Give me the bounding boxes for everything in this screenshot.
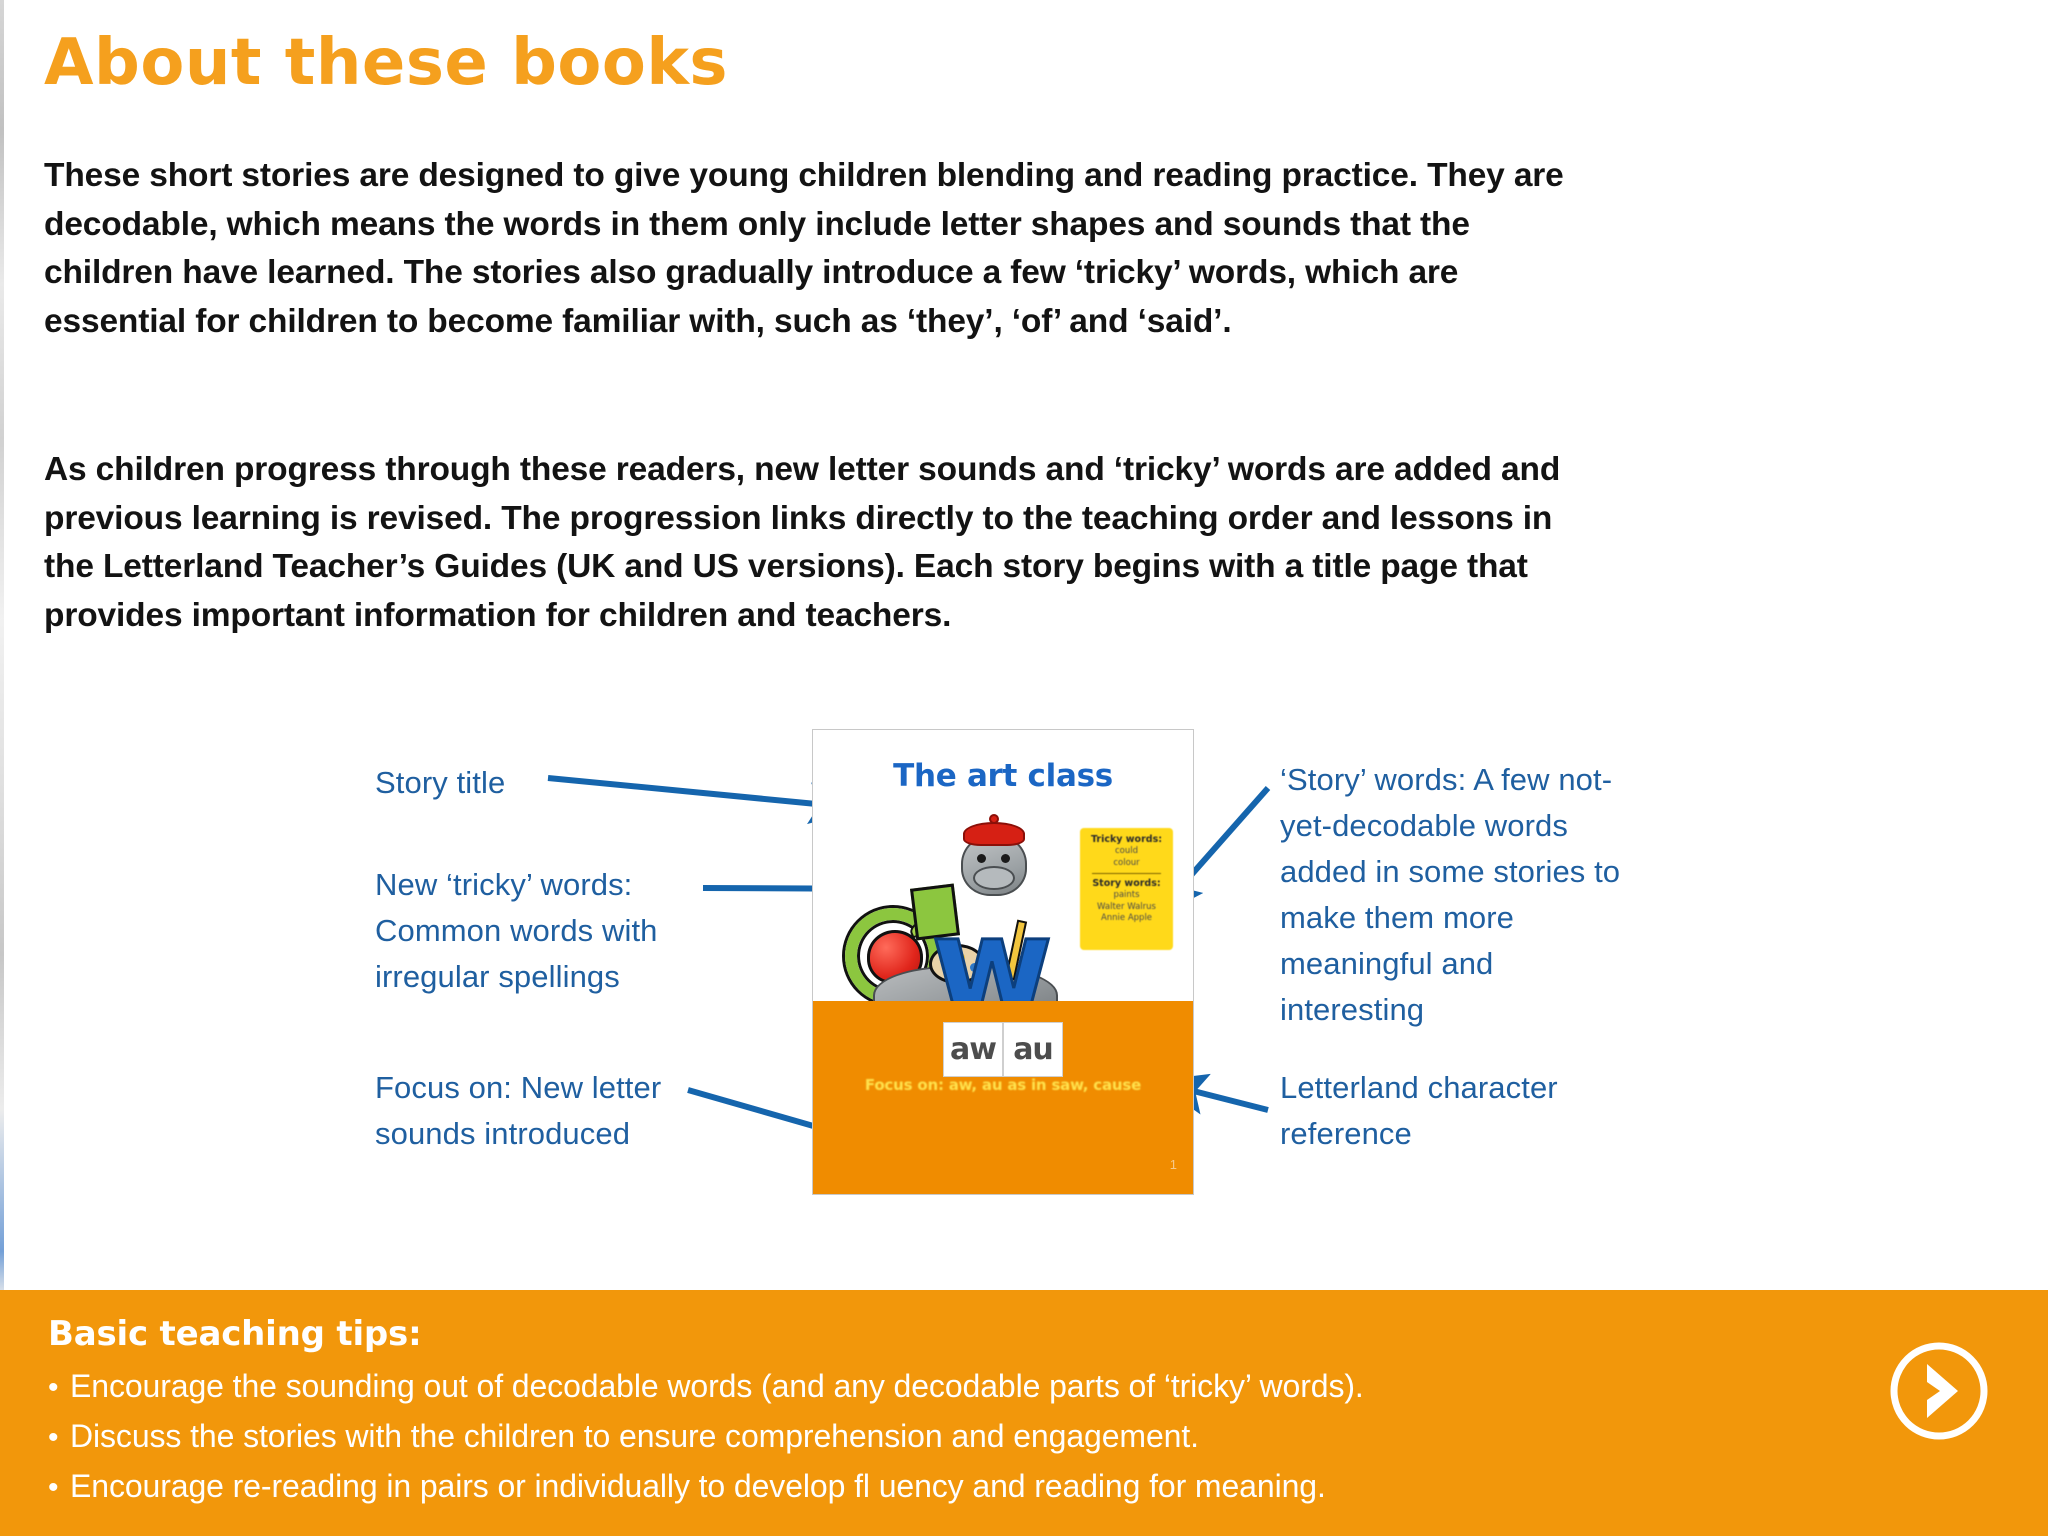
annotation-story-title: Story title	[375, 760, 695, 806]
cover-focus-line: Focus on: aw, au as in saw, cause	[813, 1076, 1193, 1094]
bullet-glyph: •	[48, 1463, 70, 1512]
story-word-3: Annie Apple	[1084, 913, 1169, 925]
cover-page-number: 1	[1170, 1157, 1177, 1172]
tricky-word-2: colour	[1084, 858, 1169, 870]
chevron-right-circle-icon[interactable]	[1886, 1338, 1992, 1444]
annotation-focus-on: Focus on: New letter sounds introduced	[375, 1065, 715, 1157]
annotation-character-reference: Letterland character reference	[1280, 1065, 1620, 1157]
story-words-heading: Story words:	[1084, 878, 1169, 890]
teaching-tips-banner: Basic teaching tips: • Encourage the sou…	[0, 1290, 2048, 1536]
beret-nub-shape	[989, 814, 999, 824]
list-item: • Encourage the sounding out of decodabl…	[48, 1362, 1828, 1412]
story-word-1: paints	[1084, 890, 1169, 902]
list-item: • Encourage re-reading in pairs or indiv…	[48, 1462, 1828, 1512]
sound-card-aw: aw	[943, 1022, 1003, 1077]
bullet-glyph: •	[48, 1413, 70, 1462]
book-cover-thumbnail[interactable]: The art class w	[812, 729, 1194, 1195]
red-beret-shape	[963, 822, 1025, 846]
walrus-left-eye	[977, 854, 986, 863]
teaching-tips-heading: Basic teaching tips:	[48, 1314, 421, 1354]
words-panel-divider	[1092, 873, 1161, 874]
tricky-words-heading: Tricky words:	[1084, 834, 1169, 846]
tip-text: Encourage re-reading in pairs or individ…	[70, 1462, 1326, 1511]
tricky-word-1: could	[1084, 846, 1169, 858]
annotated-book-diagram: Story title New ‘tricky’ words: Common w…	[0, 0, 2048, 1290]
tip-text: Discuss the stories with the children to…	[70, 1412, 1199, 1461]
cover-story-title: The art class	[813, 758, 1193, 794]
teaching-tips-list: • Encourage the sounding out of decodabl…	[48, 1362, 1828, 1512]
tip-text: Encourage the sounding out of decodable …	[70, 1362, 1364, 1411]
walrus-right-eye	[1001, 854, 1010, 863]
cover-words-panel: Tricky words: could colour Story words: …	[1080, 828, 1173, 950]
sound-card-au: au	[1003, 1022, 1063, 1077]
list-item: • Discuss the stories with the children …	[48, 1412, 1828, 1462]
bullet-glyph: •	[48, 1363, 70, 1412]
slide-page: About these books These short stories ar…	[0, 0, 2048, 1536]
story-word-2: Walter Walrus	[1084, 902, 1169, 914]
annotation-tricky-words: New ‘tricky’ words: Common words with ir…	[375, 862, 735, 1000]
annotation-story-words: ‘Story’ words: A few not-yet-decodable w…	[1280, 757, 1630, 1033]
walrus-snout-shape	[973, 866, 1015, 890]
sound-cards-row: aw au	[943, 1022, 1063, 1077]
next-page-button[interactable]	[1886, 1338, 1992, 1444]
